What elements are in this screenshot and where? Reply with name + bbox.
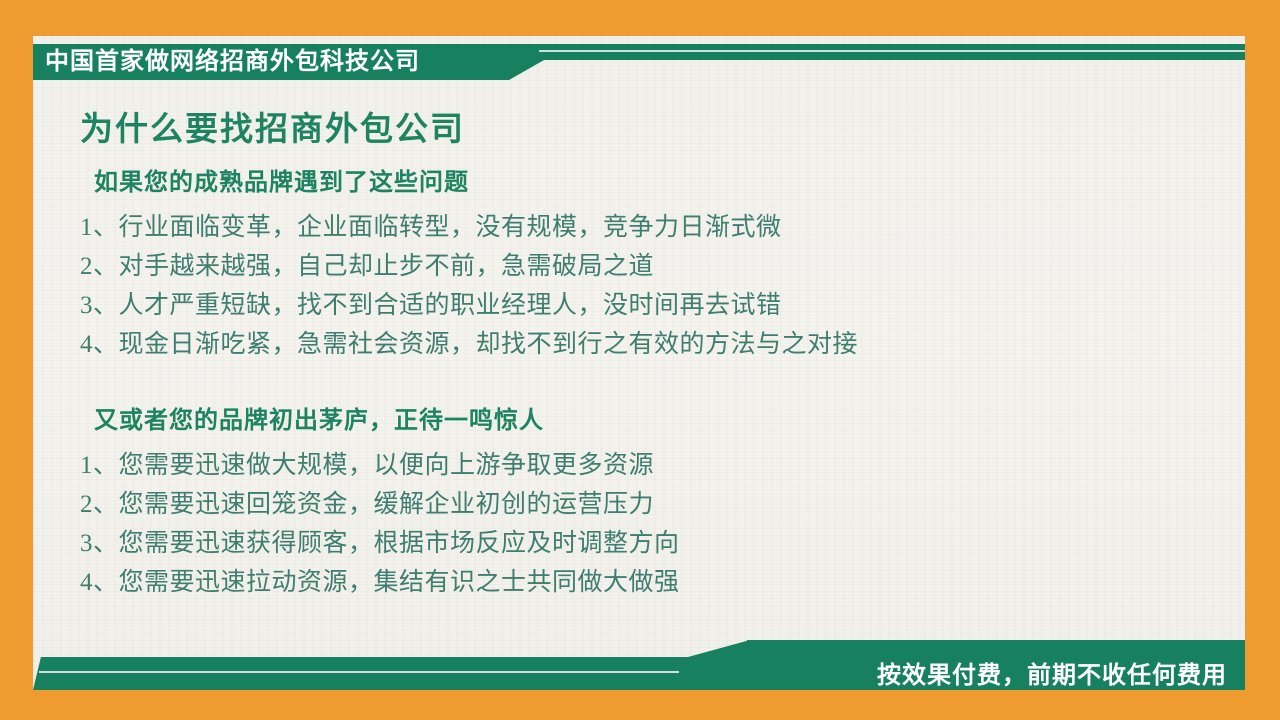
- footer-band-block: 按效果付费，前期不收任何费用: [747, 640, 1245, 690]
- list-item: 1、行业面临变革，企业面临转型，没有规模，竞争力日渐式微: [80, 208, 1220, 247]
- section-heading-mature-brand: 如果您的成熟品牌遇到了这些问题: [94, 166, 1220, 200]
- page-title: 为什么要找招商外包公司: [80, 106, 1220, 152]
- content-area: 为什么要找招商外包公司 如果您的成熟品牌遇到了这些问题 1、行业面临变革，企业面…: [80, 106, 1220, 602]
- list-item: 2、您需要迅速回笼资金，缓解企业初创的运营压力: [80, 485, 1220, 524]
- section-new-brand: 又或者您的品牌初出茅庐，正待一鸣惊人 1、您需要迅速做大规模，以便向上游争取更多…: [80, 404, 1220, 602]
- list-item: 1、您需要迅速做大规模，以便向上游争取更多资源: [80, 446, 1220, 485]
- footer-tagline: 按效果付费，前期不收任何费用: [877, 660, 1227, 692]
- header-band-rail: [533, 44, 1245, 60]
- section-mature-brand: 如果您的成熟品牌遇到了这些问题 1、行业面临变革，企业面临转型，没有规模，竞争力…: [80, 166, 1220, 364]
- slide: 中国首家做网络招商外包科技公司 为什么要找招商外包公司 如果您的成熟品牌遇到了这…: [0, 0, 1280, 720]
- list-item: 2、对手越来越强，自己却止步不前，急需破局之道: [80, 247, 1220, 286]
- section-heading-new-brand: 又或者您的品牌初出茅庐，正待一鸣惊人: [94, 404, 1220, 438]
- footer-band: 按效果付费，前期不收任何费用: [33, 630, 1245, 690]
- bullet-list-mature-brand: 1、行业面临变革，企业面临转型，没有规模，竞争力日渐式微 2、对手越来越强，自己…: [80, 208, 1220, 364]
- footer-band-rail: [33, 657, 693, 690]
- list-item: 4、现金日渐吃紧，急需社会资源，却找不到行之有效的方法与之对接: [80, 325, 1220, 364]
- list-item: 4、您需要迅速拉动资源，集结有识之士共同做大做强: [80, 563, 1220, 602]
- footer-band-rail-line: [39, 671, 679, 673]
- list-item: 3、您需要迅速获得顾客，根据市场反应及时调整方向: [80, 524, 1220, 563]
- footer-band-wedge: [688, 640, 750, 690]
- list-item: 3、人才严重短缺，找不到合适的职业经理人，没时间再去试错: [80, 286, 1220, 325]
- bullet-list-new-brand: 1、您需要迅速做大规模，以便向上游争取更多资源 2、您需要迅速回笼资金，缓解企业…: [80, 446, 1220, 602]
- header-banner-text: 中国首家做网络招商外包科技公司: [45, 45, 420, 79]
- header-band-rail-line: [539, 50, 1245, 52]
